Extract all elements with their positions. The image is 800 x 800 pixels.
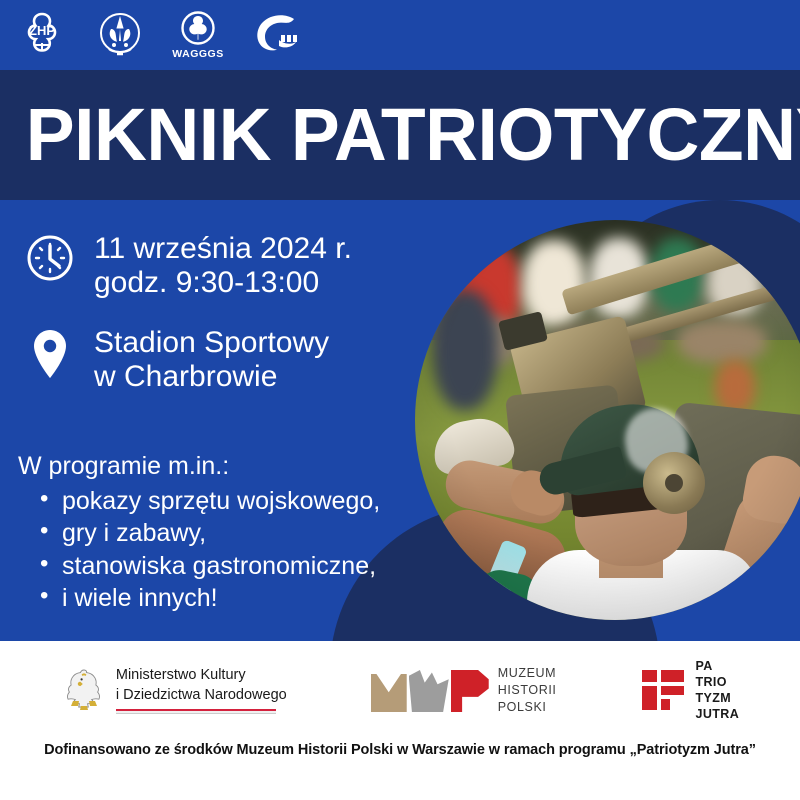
- wave-logo: [248, 7, 304, 63]
- zhp-logo: ZHP: [14, 7, 70, 63]
- museum-of-polish-history-logo: MUZEUM HISTORII POLSKI: [371, 665, 557, 716]
- svg-text:WAGGGS: WAGGGS: [172, 48, 223, 60]
- photo-vignette: [415, 220, 800, 620]
- patriotyzm-jutra-logo: PA TRIO TYZM JUTRA: [640, 658, 739, 723]
- ministry-text: Ministerstwo Kultury i Dziedzictwa Narod…: [116, 666, 287, 713]
- event-datetime: 11 września 2024 r. godz. 9:30-13:00: [24, 232, 424, 300]
- clock-icon: [24, 232, 76, 290]
- sponsor-logos: Ministerstwo Kultury i Dziedzictwa Narod…: [0, 655, 800, 725]
- polish-eagle-icon: [61, 665, 107, 715]
- list-item: gry i zabawy,: [18, 517, 438, 549]
- event-photo: LI 4 TKO: [415, 220, 800, 620]
- page-title: PIKNIK PATRIOTYCZNY: [0, 98, 800, 172]
- mhp-p-shape: [451, 670, 489, 712]
- venue-name: Stadion Sportowy: [94, 326, 329, 360]
- ministry-flag-rule: [116, 709, 276, 714]
- list-item: i wiele innych!: [18, 582, 438, 614]
- event-location: Stadion Sportowy w Charbrowie: [24, 326, 424, 394]
- pj-line-3: TYZM: [695, 690, 739, 706]
- event-location-text: Stadion Sportowy w Charbrowie: [94, 326, 329, 394]
- sponsor-footer: Ministerstwo Kultury i Dziedzictwa Narod…: [0, 641, 800, 800]
- patriotyzm-jutra-text: PA TRIO TYZM JUTRA: [695, 658, 739, 723]
- list-item: pokazy sprzętu wojskowego,: [18, 485, 438, 517]
- venue-town: w Charbrowie: [94, 360, 329, 394]
- ministry-of-culture-logo: Ministerstwo Kultury i Dziedzictwa Narod…: [61, 665, 287, 715]
- pj-line-1: PA: [695, 658, 739, 674]
- mhp-line-1: MUZEUM: [498, 665, 557, 682]
- patriotyzm-jutra-mark-icon: [640, 668, 686, 712]
- wosm-logo: [92, 7, 148, 63]
- ministry-line-2: i Dziedzictwa Narodowego: [116, 686, 287, 705]
- pj-line-4: JUTRA: [695, 706, 739, 722]
- title-band: PIKNIK PATRIOTYCZNY: [0, 70, 800, 200]
- map-pin-icon: [24, 326, 76, 384]
- mhp-mark-icon: [371, 668, 489, 712]
- programme-heading: W programie m.in.:: [18, 452, 438, 481]
- event-details: 11 września 2024 r. godz. 9:30-13:00 Sta…: [24, 232, 424, 420]
- mhp-wing-shape: [409, 670, 449, 712]
- mhp-line-3: POLSKI: [498, 699, 557, 716]
- organisation-logos: ZHP WAGGGS: [0, 0, 800, 70]
- svg-text:ZHP: ZHP: [29, 23, 55, 38]
- photo-scene: LI 4 TKO: [415, 220, 800, 620]
- ministry-line-1: Ministerstwo Kultury: [116, 666, 287, 685]
- poster: LI 4 TKO ZHP: [0, 0, 800, 800]
- event-time: godz. 9:30-13:00: [94, 266, 352, 300]
- funding-note: Dofinansowano ze środków Muzeum Historii…: [0, 742, 800, 758]
- event-datetime-text: 11 września 2024 r. godz. 9:30-13:00: [94, 232, 352, 300]
- mhp-line-2: HISTORII: [498, 682, 557, 699]
- programme-list: pokazy sprzętu wojskowego, gry i zabawy,…: [18, 485, 438, 614]
- programme-section: W programie m.in.: pokazy sprzętu wojsko…: [18, 452, 438, 614]
- pj-line-2: TRIO: [695, 674, 739, 690]
- waggs-logo: WAGGGS: [170, 7, 226, 63]
- mhp-crown-shape: [371, 674, 407, 712]
- list-item: stanowiska gastronomiczne,: [18, 550, 438, 582]
- event-date: 11 września 2024 r.: [94, 232, 352, 266]
- mhp-text: MUZEUM HISTORII POLSKI: [498, 665, 557, 716]
